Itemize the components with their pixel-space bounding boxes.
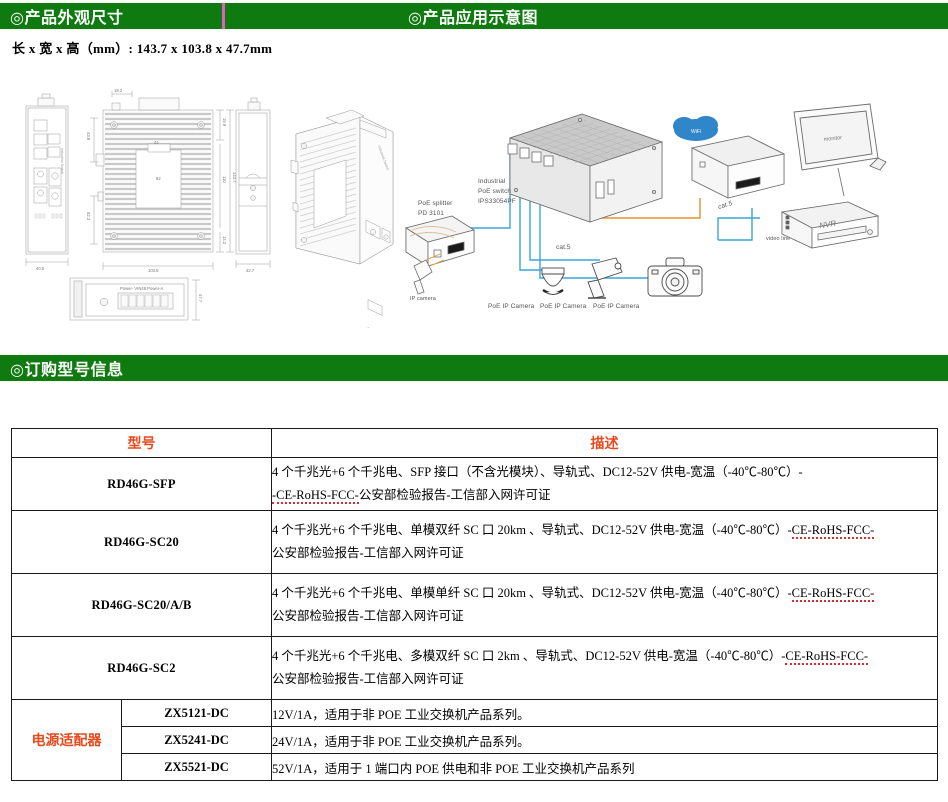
section-bar-ordering: ◎订购型号信息 xyxy=(0,355,948,381)
dim-label-top-right-1: 15.9 xyxy=(222,118,227,126)
model-rd46g-sfp: RD46G-SFP xyxy=(12,458,272,511)
app-label-video-line: video line xyxy=(766,236,790,242)
desc-line-1: 4 个千兆光+6 个千兆电、单模双纤 SC 口 20km 、导轨式、DC12-5… xyxy=(272,519,937,542)
desc-line-2: 公安部检验报告-工信部入网许可证 xyxy=(272,605,937,628)
dim-label-left-1: 43.8 xyxy=(86,132,91,140)
desc-rest: 公安部检验报告-工信部入网许可证 xyxy=(359,488,551,502)
dim-label-top-small: 18.2 xyxy=(114,88,122,93)
desc-rd46g-sfp: 4 个千兆光+6 个千兆电、SFP 接口（不含光模块）、导轨式、DC12-52V… xyxy=(272,458,938,511)
desc-line-2: 公安部检验报告-工信部入网许可证 xyxy=(272,668,937,691)
application-diagram: WiFi monitor xyxy=(400,100,940,320)
desc-rd46g-sc20-a-b: 4 个千兆光+6 个千兆电、单模单纤 SC 口 20km 、导轨式、DC12-5… xyxy=(272,574,938,637)
section-title-application: ◎产品应用示意图 xyxy=(408,4,538,28)
dim-label-left-2: 52.3 xyxy=(86,212,91,220)
app-label-switch-line1: Industrial xyxy=(478,178,505,185)
adapter-desc-zx5241: 24V/1A，适用于非 POE 工业交换机产品系列。 xyxy=(272,727,938,754)
app-label-switch-line3: IPS33054PF xyxy=(478,198,516,205)
table-row: RD46G-SC2 4 个千兆光+6 个千兆电、多模双纤 SC 口 2km 、导… xyxy=(12,637,938,700)
model-rd46g-sc2: RD46G-SC2 xyxy=(12,637,272,700)
dim-label-terminal: Power- VIN48 Power-A xyxy=(120,286,163,291)
drawing-brand-text: Industrial Switch xyxy=(60,148,64,174)
desc-line-2: 公安部检验报告-工信部入网许可证 xyxy=(272,542,937,565)
app-label-camera-1: PoE IP Camera xyxy=(488,303,534,310)
column-header-model: 型号 xyxy=(12,429,272,458)
table-row: 电源适配器 ZX5121-DC 12V/1A，适用于非 POE 工业交换机产品系… xyxy=(12,700,938,727)
cert-text: CE-RoHS-FCC- xyxy=(785,649,868,665)
wifi-cloud: WiFi xyxy=(673,116,718,141)
app-label-ip-camera: IP camera xyxy=(410,296,436,302)
model-rd46g-sc20: RD46G-SC20 xyxy=(12,511,272,574)
dim-label-inner-width: 41 xyxy=(154,140,159,145)
dimension-caption: 长 x 宽 x 高（mm）: 143.7 x 103.8 x 47.7mm xyxy=(12,38,272,57)
adapter-desc-zx5521: 52V/1A，适用于 1 端口内 POE 供电和非 POE 工业交换机产品系列 xyxy=(272,754,938,781)
desc-line-1: 4 个千兆光+6 个千兆电、多模双纤 SC 口 2km 、导轨式、DC12-52… xyxy=(272,645,937,668)
ordering-table: 型号 描述 RD46G-SFP 4 个千兆光+6 个千兆电、SFP 接口（不含光… xyxy=(11,428,938,781)
desc-rd46g-sc2: 4 个千兆光+6 个千兆电、多模双纤 SC 口 2km 、导轨式、DC12-52… xyxy=(272,637,938,700)
model-rd46g-sc20-a-b: RD46G-SC20/A/B xyxy=(12,574,272,637)
app-label-camera-2: PoE IP Camera xyxy=(540,303,586,310)
adapter-model-zx5521: ZX5521-DC xyxy=(122,754,272,781)
app-label-camera-3: PoE IP Camera xyxy=(593,303,639,310)
app-label-splitter-line2: PD 3101 xyxy=(418,210,444,217)
cert-text: -CE-RoHS-FCC- xyxy=(272,488,359,504)
desc-line-1: 4 个千兆光+6 个千兆电、单模单纤 SC 口 20km 、导轨式、DC12-5… xyxy=(272,582,937,605)
desc-line-2: -CE-RoHS-FCC-公安部检验报告-工信部入网许可证 xyxy=(272,484,937,507)
cert-text: CE-RoHS-FCC- xyxy=(792,586,875,602)
app-label-switch-line2: PoE switch xyxy=(478,188,511,195)
dim-label-bottom-width: 103.8 xyxy=(148,268,158,273)
dim-label-front-width: 40.5 xyxy=(36,266,44,271)
adapter-model-zx5121: ZX5121-DC xyxy=(122,700,272,727)
section-bar-top: ◎产品外观尺寸 ◎产品应用示意图 xyxy=(0,3,948,29)
table-row: RD46G-SC20 4 个千兆光+6 个千兆电、单模双纤 SC 口 20km … xyxy=(12,511,938,574)
app-label-splitter-line1: PoE splitter xyxy=(418,200,452,207)
bar-divider xyxy=(222,3,225,29)
adapter-desc-zx5121: 12V/1A，适用于非 POE 工业交换机产品系列。 xyxy=(272,700,938,727)
dim-label-bottom-view-height: 47.7 xyxy=(198,294,203,302)
desc-main: 4 个千兆光+6 个千兆电、单模单纤 SC 口 20km 、导轨式、DC12-5… xyxy=(272,586,792,600)
dim-label-inner-height: 82 xyxy=(156,176,161,181)
table-header-row: 型号 描述 xyxy=(12,429,938,458)
app-label-cat5: cat.5 xyxy=(556,244,571,251)
adapter-model-zx5241: ZX5241-DC xyxy=(122,727,272,754)
desc-line-1: 4 个千兆光+6 个千兆电、SFP 接口（不含光模块）、导轨式、DC12-52V… xyxy=(272,461,937,484)
table-row: RD46G-SFP 4 个千兆光+6 个千兆电、SFP 接口（不含光模块）、导轨… xyxy=(12,458,938,511)
cert-text: CE-RoHS-FCC- xyxy=(792,523,875,539)
table-row: ZX5521-DC 52V/1A，适用于 1 端口内 POE 供电和非 POE … xyxy=(12,754,938,781)
technical-drawings: Industrial Switch Industrial Switch 40.5… xyxy=(8,88,398,328)
column-header-description: 描述 xyxy=(272,429,938,458)
dim-label-right-total: 143.7 xyxy=(232,172,237,182)
svg-text:WiFi: WiFi xyxy=(691,129,701,135)
desc-rd46g-sc20: 4 个千兆光+6 个千兆电、单模双纤 SC 口 20km 、导轨式、DC12-5… xyxy=(272,511,938,574)
dim-label-right-inner: 110 xyxy=(222,176,227,183)
desc-main: 4 个千兆光+6 个千兆电、多模双纤 SC 口 2km 、导轨式、DC12-52… xyxy=(272,649,785,663)
dim-label-bottom-right: 14.2 xyxy=(222,236,227,244)
table-row: RD46G-SC20/A/B 4 个千兆光+6 个千兆电、单模单纤 SC 口 2… xyxy=(12,574,938,637)
dim-label-side-width: 42.7 xyxy=(246,268,254,273)
section-title-dimensions: ◎产品外观尺寸 xyxy=(10,4,123,28)
desc-main: 4 个千兆光+6 个千兆电、单模双纤 SC 口 20km 、导轨式、DC12-5… xyxy=(272,523,792,537)
section-title-ordering: ◎订购型号信息 xyxy=(10,356,123,380)
adapter-group-label: 电源适配器 xyxy=(12,700,122,781)
table-row: ZX5241-DC 24V/1A，适用于非 POE 工业交换机产品系列。 xyxy=(12,727,938,754)
